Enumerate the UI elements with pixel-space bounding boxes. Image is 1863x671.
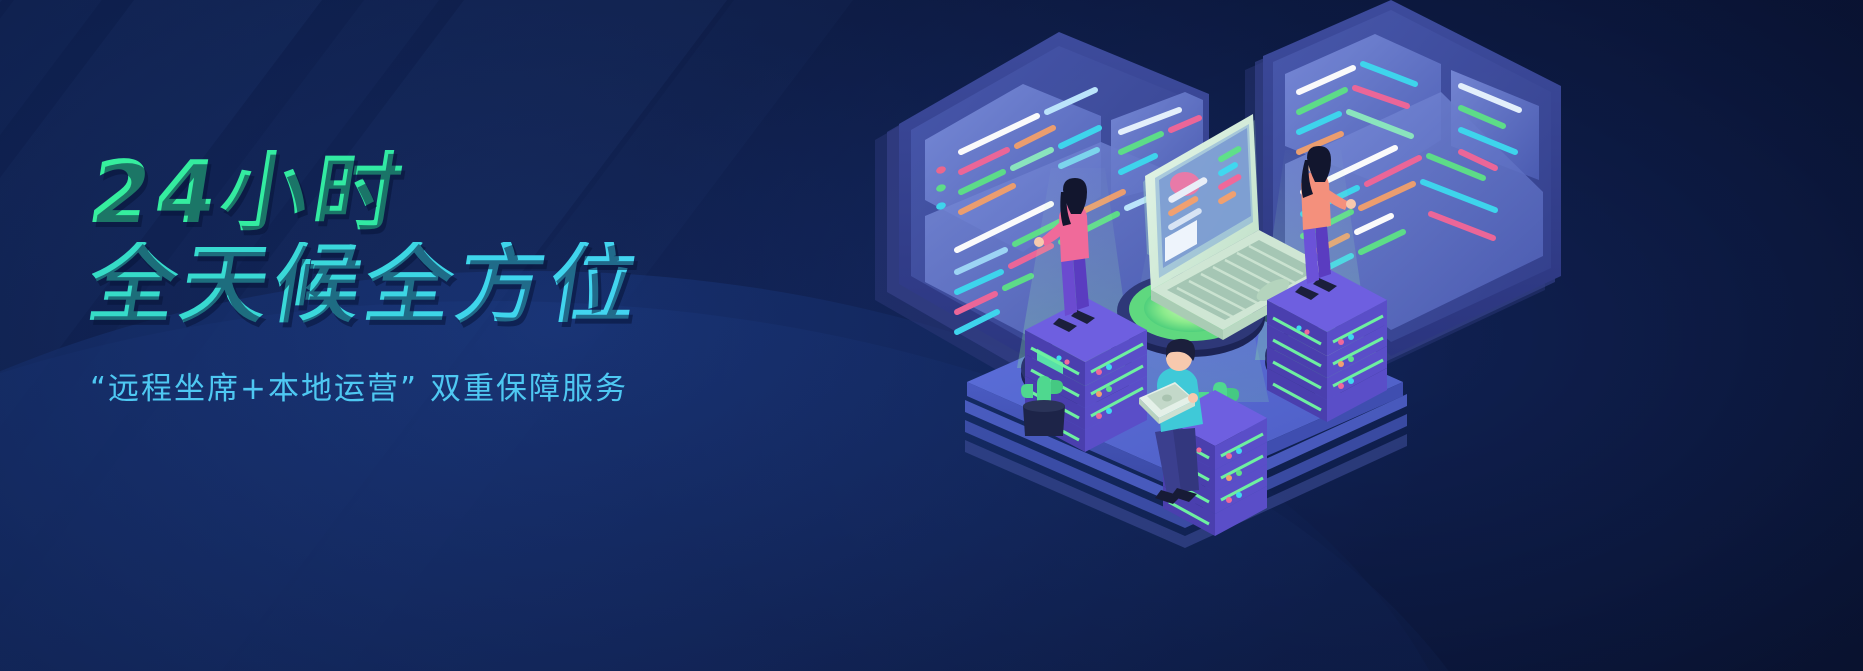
- headline-line-2: 全天候全方位: [83, 242, 857, 330]
- headline-line-1: 24小时: [83, 150, 857, 238]
- isometric-illustration: [855, 0, 1555, 671]
- server-stack-right: [1267, 268, 1387, 422]
- copy-block: 24小时 全天候全方位 “远程坐席+本地运营” 双重保障服务: [90, 150, 850, 408]
- promo-banner: 24小时 全天候全方位 “远程坐席+本地运营” 双重保障服务: [0, 0, 1863, 671]
- subtitle: “远程坐席+本地运营” 双重保障服务: [90, 363, 850, 408]
- cactus-left: [1021, 376, 1065, 436]
